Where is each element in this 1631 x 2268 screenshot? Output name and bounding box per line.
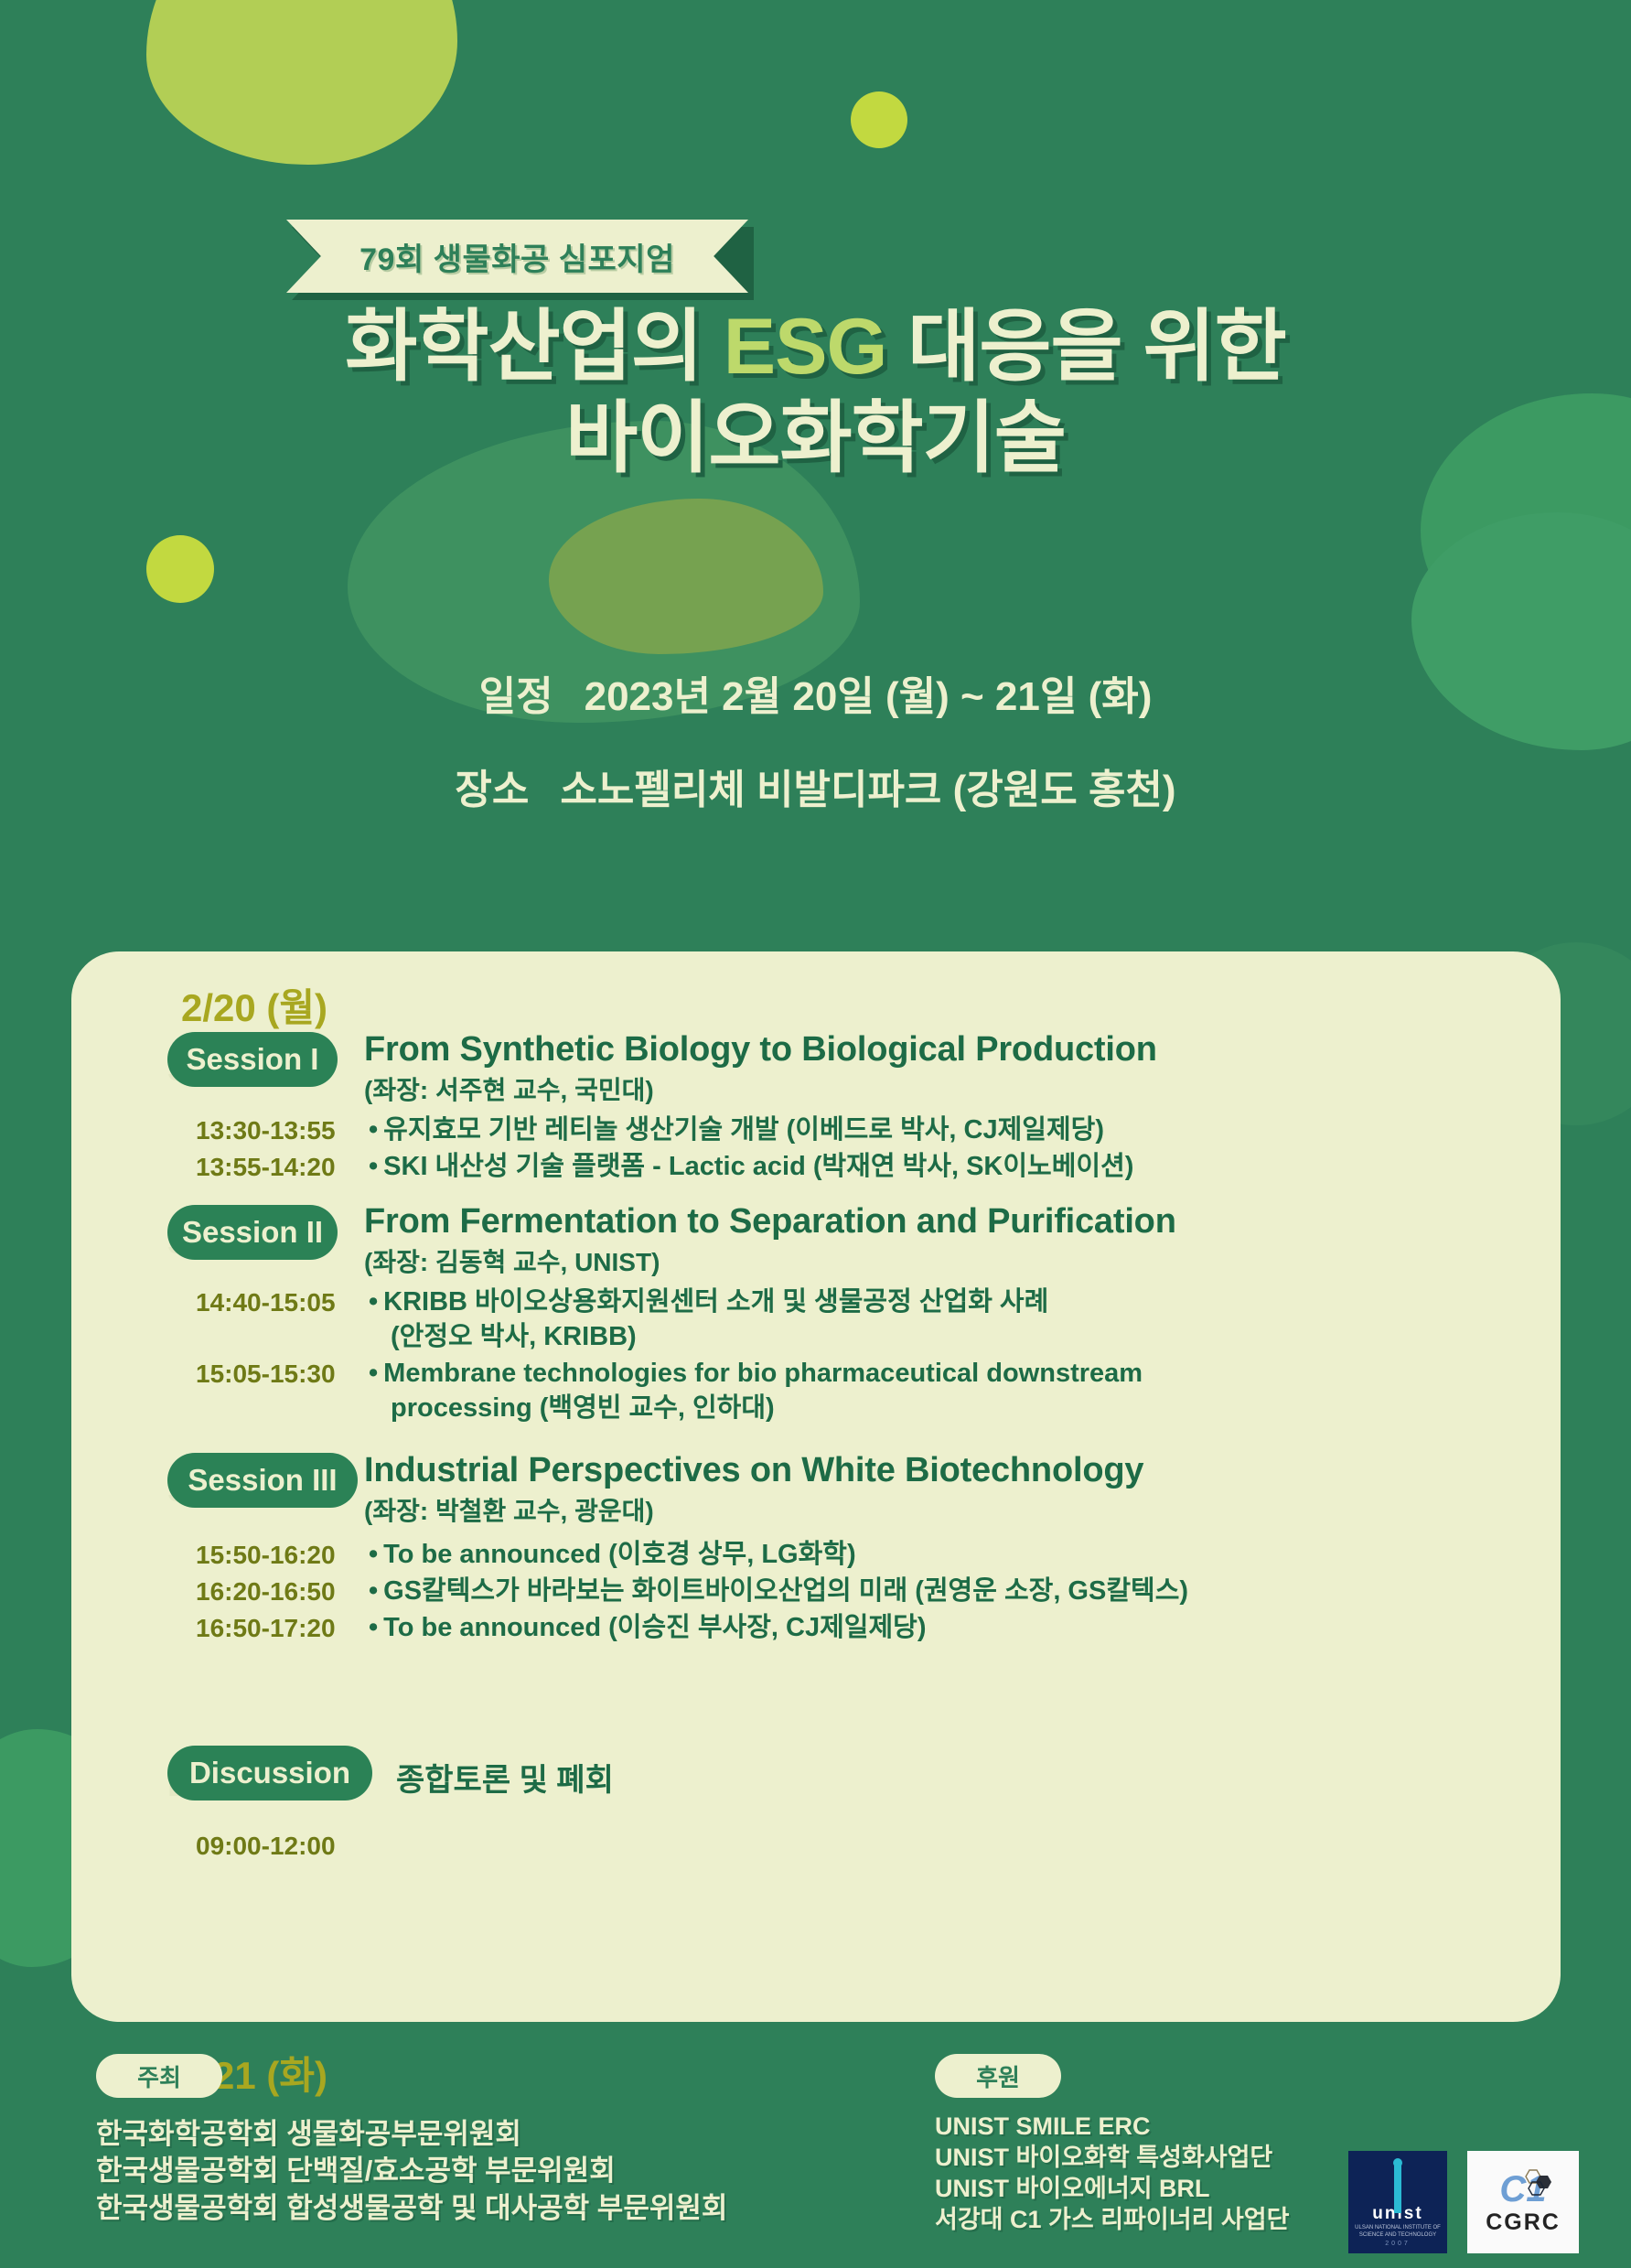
row-desc: •KRIBB 바이오상용화지원센터 소개 및 생물공정 산업화 사례: [369, 1286, 1048, 1318]
row-desc-text: To be announced (이승진 부사장, CJ제일제당): [383, 1613, 926, 1642]
row-desc-cont: (안정오 박사, KRIBB): [391, 1321, 637, 1353]
unist-pillar-icon: [1394, 2166, 1401, 2213]
discussion-pill: Discussion: [167, 1746, 372, 1800]
row-time: 14:40-15:05: [196, 1288, 336, 1317]
row-desc-text: To be announced (이호경 상무, LG화학): [383, 1540, 855, 1569]
discussion-time: 09:00-12:00: [196, 1832, 336, 1861]
page-title: 화학산업의 ESG 대응을 위한 바이오화학기술: [0, 302, 1631, 485]
row-desc-text: GS칼텍스가 바라보는 화이트바이오산업의 미래 (권영운 소장, GS칼텍스): [383, 1576, 1188, 1606]
session-title-3: Industrial Perspectives on White Biotech…: [364, 1451, 1143, 1490]
title-accent-esg: ESG: [724, 303, 887, 391]
hexagon-icon: [1521, 2169, 1552, 2197]
host-org-item: 한국화학공학회 생물화공부문위원회: [96, 2116, 727, 2153]
unist-year: 2007: [1385, 2241, 1411, 2247]
session-chair-3: (좌장: 박철환 교수, 광운대): [364, 1491, 654, 1528]
c1-cgrc-logo: C1 CGRC: [1467, 2151, 1579, 2253]
place-label: 장소: [455, 768, 529, 812]
c1-wordmark: C1: [1499, 2171, 1546, 2208]
bullet-icon: •: [369, 1152, 378, 1181]
bullet-icon: •: [369, 1287, 378, 1317]
row-desc: •SKI 내산성 기술 플랫폼 - Lactic acid (박재연 박사, S…: [369, 1151, 1133, 1183]
discussion-text: 종합토론 및 폐회: [396, 1755, 614, 1800]
decor-dot-top-right: [851, 91, 907, 148]
row-desc-text: 유지효모 기반 레티놀 생산기술 개발 (이베드로 박사, CJ제일제당): [383, 1115, 1104, 1145]
day-label-1: 2/20 (월): [181, 977, 327, 1033]
row-desc-text: Membrane technologies for bio pharmaceut…: [383, 1359, 1143, 1388]
date-value: 2023년 2월 20일 (월) ~ 21일 (화): [585, 674, 1153, 719]
row-time: 16:20-16:50: [196, 1577, 336, 1607]
host-org-list: 한국화학공학회 생물화공부문위원회 한국생물공학회 단백질/효소공학 부문위원회…: [96, 2116, 727, 2227]
title-line-2: 바이오화학기술: [0, 393, 1631, 485]
decor-blob-top-left: [146, 0, 457, 165]
row-desc-text: SKI 내산성 기술 플랫폼 - Lactic acid (박재연 박사, SK…: [383, 1152, 1133, 1181]
row-desc: •유지효모 기반 레티놀 생산기술 개발 (이베드로 박사, CJ제일제당): [369, 1114, 1104, 1146]
row-time: 13:30-13:55: [196, 1116, 336, 1145]
sponsor-org-item: 서강대 C1 가스 리파이너리 사업단: [935, 2204, 1289, 2235]
row-desc: •To be announced (이승진 부사장, CJ제일제당): [369, 1612, 926, 1644]
host-org-item: 한국생물공학회 합성생물공학 및 대사공학 부문위원회: [96, 2190, 727, 2227]
row-desc-cont: processing (백영빈 교수, 인하대): [391, 1392, 775, 1424]
poster-root: 79회 생물화공 심포지엄 화학산업의 ESG 대응을 위한 바이오화학기술 일…: [0, 0, 1631, 2268]
row-desc: •GS칼텍스가 바라보는 화이트바이오산업의 미래 (권영운 소장, GS칼텍스…: [369, 1575, 1188, 1607]
bullet-icon: •: [369, 1115, 378, 1145]
unist-logo: unist ULSAN NATIONAL INSTITUTE OF SCIENC…: [1348, 2151, 1447, 2253]
bullet-icon: •: [369, 1613, 378, 1642]
session-pill-3: Session III: [167, 1453, 358, 1508]
sponsor-org-item: UNIST 바이오에너지 BRL: [935, 2173, 1289, 2204]
date-label: 일정: [479, 674, 553, 719]
session-title-1: From Synthetic Biology to Biological Pro…: [364, 1030, 1157, 1070]
row-time: 16:50-17:20: [196, 1614, 336, 1643]
sponsor-tag: 후원: [935, 2054, 1061, 2098]
row-time: 15:50-16:20: [196, 1541, 336, 1570]
decor-dot-left: [146, 535, 214, 603]
row-time: 13:55-14:20: [196, 1153, 336, 1182]
bullet-icon: •: [369, 1359, 378, 1388]
event-place-row: 장소소노펠리체 비발디파크 (강원도 홍천): [0, 757, 1631, 815]
session-chair-1: (좌장: 서주현 교수, 국민대): [364, 1070, 654, 1107]
ribbon-label: 79회 생물화공 심포지엄: [359, 234, 675, 279]
title-part-b: 대응을 위한: [886, 303, 1285, 391]
bullet-icon: •: [369, 1576, 378, 1606]
row-desc: •Membrane technologies for bio pharmaceu…: [369, 1358, 1143, 1390]
event-ribbon: 79회 생물화공 심포지엄: [286, 220, 748, 293]
cgrc-wordmark: CGRC: [1486, 2211, 1561, 2234]
bullet-icon: •: [369, 1540, 378, 1569]
place-value: 소노펠리체 비발디파크 (강원도 홍천): [560, 768, 1175, 812]
row-desc: •To be announced (이호경 상무, LG화학): [369, 1539, 856, 1571]
event-info: 일정2023년 2월 20일 (월) ~ 21일 (화) 장소소노펠리체 비발디…: [0, 663, 1631, 850]
unist-subtitle: ULSAN NATIONAL INSTITUTE OF SCIENCE AND …: [1348, 2225, 1447, 2239]
session-chair-2: (좌장: 김동혁 교수, UNIST): [364, 1242, 660, 1279]
host-tag: 주최: [96, 2054, 222, 2098]
title-part-a: 화학산업의: [345, 303, 724, 391]
sponsor-org-item: UNIST 바이오화학 특성화사업단: [935, 2142, 1289, 2173]
host-org-item: 한국생물공학회 단백질/효소공학 부문위원회: [96, 2153, 727, 2189]
sponsor-org-item: UNIST SMILE ERC: [935, 2111, 1289, 2142]
row-time: 15:05-15:30: [196, 1360, 336, 1389]
session-pill-2: Session II: [167, 1205, 338, 1260]
session-pill-1: Session I: [167, 1032, 338, 1087]
sponsor-org-list: UNIST SMILE ERC UNIST 바이오화학 특성화사업단 UNIST…: [935, 2111, 1289, 2235]
title-line-1: 화학산업의 ESG 대응을 위한: [0, 302, 1631, 393]
row-desc-text: KRIBB 바이오상용화지원센터 소개 및 생물공정 산업화 사례: [383, 1287, 1048, 1317]
session-title-2: From Fermentation to Separation and Puri…: [364, 1202, 1176, 1241]
ribbon-body: 79회 생물화공 심포지엄: [286, 220, 748, 293]
event-date-row: 일정2023년 2월 20일 (월) ~ 21일 (화): [0, 663, 1631, 722]
schedule-card: 2/20 (월) Session I Session I From Synthe…: [71, 951, 1561, 2022]
